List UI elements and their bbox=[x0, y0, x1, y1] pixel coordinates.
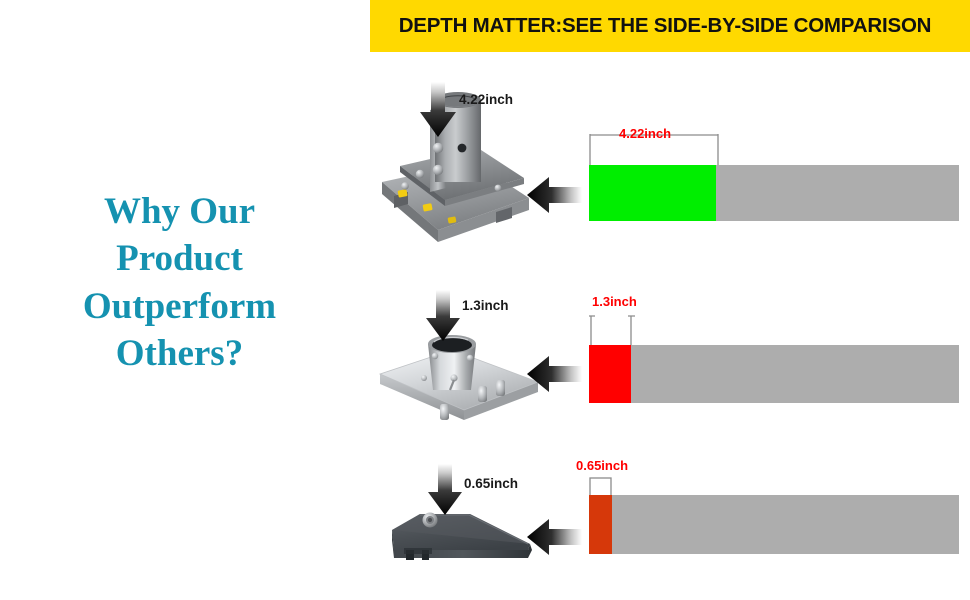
bar-track bbox=[630, 345, 959, 403]
left-arrow-icon bbox=[527, 175, 582, 220]
down-arrow-icon bbox=[426, 464, 464, 521]
comparison-row-competitor-a: 1.3inch 1.3inch bbox=[0, 282, 970, 427]
depth-bar-chart-competitor-a: 1.3inch bbox=[589, 282, 959, 427]
dimension-label: 1.3inch bbox=[592, 294, 637, 309]
down-arrow-icon bbox=[424, 290, 462, 347]
comparison-infographic: DEPTH MATTER:SEE THE SIDE-BY-SIDE COMPAR… bbox=[0, 0, 970, 600]
left-arrow-icon bbox=[527, 354, 582, 399]
headline-banner: DEPTH MATTER:SEE THE SIDE-BY-SIDE COMPAR… bbox=[370, 0, 970, 52]
dimension-label: 4.22inch bbox=[619, 126, 671, 141]
bar-track bbox=[715, 165, 959, 221]
headline-banner-text: DEPTH MATTER:SEE THE SIDE-BY-SIDE COMPAR… bbox=[370, 0, 960, 52]
depth-callout-label: 1.3inch bbox=[462, 298, 509, 313]
dimension-label: 0.65inch bbox=[576, 458, 628, 473]
comparison-row-our-product: 4.22inch bbox=[0, 70, 970, 250]
bar-fill bbox=[589, 495, 612, 554]
down-arrow-icon bbox=[418, 82, 458, 143]
left-arrow-icon bbox=[527, 517, 582, 562]
comparison-row-competitor-b: 0.65inch 0.65inch bbox=[0, 452, 970, 577]
depth-callout-label: 4.22inch bbox=[459, 92, 513, 107]
depth-bar-chart-our-product: 4.22inch bbox=[589, 70, 959, 250]
bar-fill bbox=[589, 165, 716, 221]
depth-bar-chart-competitor-b: 0.65inch bbox=[589, 452, 959, 577]
bar-fill bbox=[589, 345, 631, 403]
depth-callout-label: 0.65inch bbox=[464, 476, 518, 491]
bar-track bbox=[611, 495, 959, 554]
